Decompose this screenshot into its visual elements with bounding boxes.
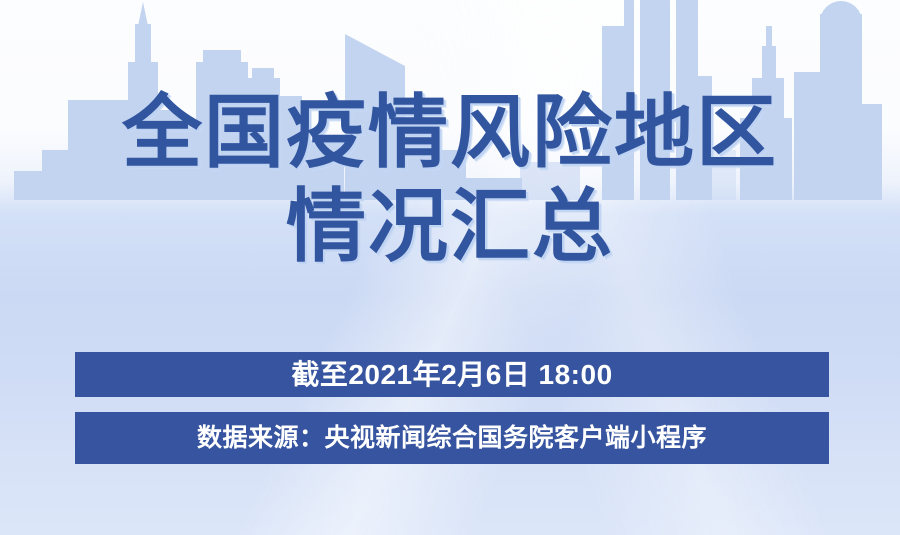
- title-line-2: 情况汇总: [0, 180, 900, 274]
- poster-canvas: 全国疫情风险地区 情况汇总 截至2021年2月6日 18:00 数据来源：央视新…: [0, 0, 900, 535]
- source-banner: 数据来源：央视新闻综合国务院客户端小程序: [75, 412, 829, 464]
- source-banner-label: 数据来源：央视新闻综合国务院客户端小程序: [197, 424, 707, 452]
- date-banner: 截至2021年2月6日 18:00: [75, 352, 829, 397]
- poster-title: 全国疫情风险地区 情况汇总: [0, 86, 900, 274]
- date-banner-label: 截至2021年2月6日 18:00: [291, 359, 612, 390]
- title-line-1: 全国疫情风险地区: [0, 86, 900, 180]
